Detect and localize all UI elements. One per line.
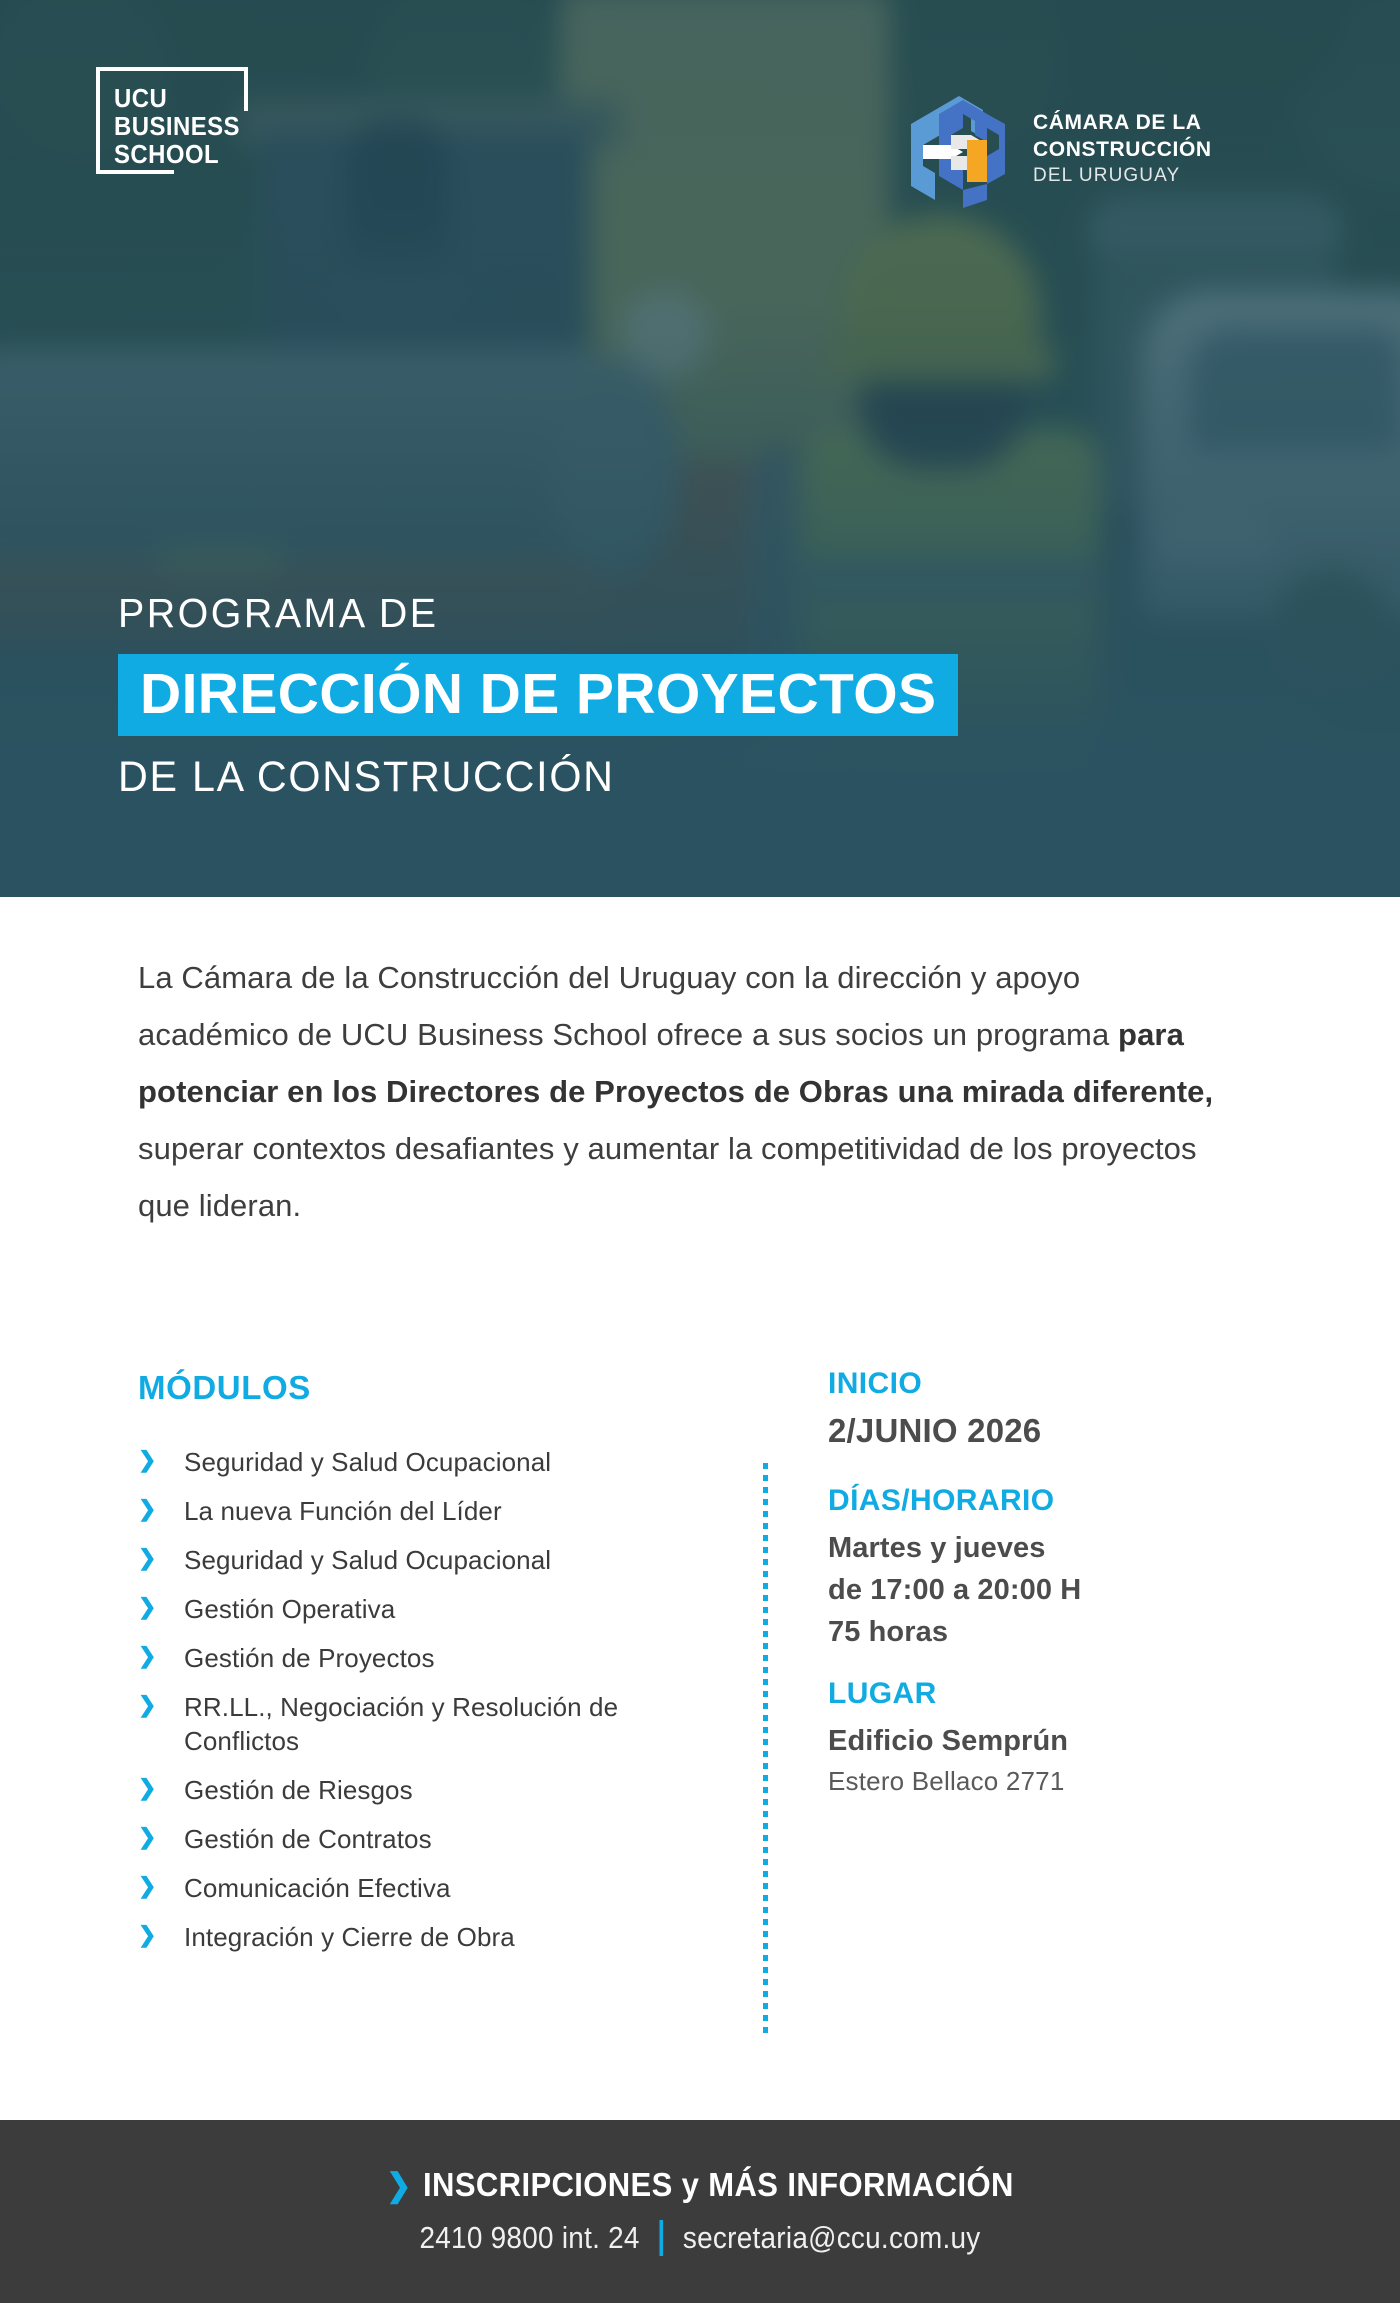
lugar-value: Edificio Semprún xyxy=(828,1720,1268,1762)
hero-banner: UCU BUSINESS SCHOOL CÁMARA DE LA xyxy=(0,0,1400,897)
list-item: ❯ La nueva Función del Líder xyxy=(138,1494,718,1528)
hexagon-chevron-icon xyxy=(905,90,1011,208)
title-highlight-bar: DIRECCIÓN DE PROYECTOS xyxy=(118,654,958,736)
list-item: ❯ Gestión de Contratos xyxy=(138,1822,718,1856)
dias-horario-label: DÍAS/HORARIO xyxy=(828,1484,1268,1518)
list-item: ❯ Seguridad y Salud Ocupacional xyxy=(138,1543,718,1577)
footer-email[interactable]: secretaria@ccu.com.uy xyxy=(683,2220,981,2256)
module-label: Gestión de Proyectos xyxy=(184,1641,435,1675)
ccu-logo-line-1: CÁMARA DE LA xyxy=(1033,109,1212,136)
ucu-logo-line-2: BUSINESS xyxy=(114,112,240,140)
chevron-right-icon: ❯ xyxy=(138,1871,184,1901)
chevron-right-icon: ❯ xyxy=(138,1543,184,1573)
lugar-address: Estero Bellaco 2771 xyxy=(828,1762,1268,1800)
list-item: ❯ Comunicación Efectiva xyxy=(138,1871,718,1905)
footer-contact-row: 2410 9800 int. 24 secretaria@ccu.com.uy xyxy=(70,2220,1330,2256)
chevron-right-icon: ❯ xyxy=(138,1690,184,1720)
chevron-right-icon: ❯ xyxy=(138,1641,184,1671)
course-details: INICIO 2/JUNIO 2026 DÍAS/HORARIO Martes … xyxy=(828,1367,1268,1800)
chevron-right-icon: ❯ xyxy=(138,1920,184,1950)
chevron-right-icon: ❯ xyxy=(138,1494,184,1524)
chevron-right-icon: ❯ xyxy=(138,1773,184,1803)
list-item: ❯ RR.LL., Negociación y Resolución de Co… xyxy=(138,1690,718,1758)
title-subtitle: DE LA CONSTRUCCIÓN xyxy=(118,752,1251,802)
module-label: Seguridad y Salud Ocupacional xyxy=(184,1543,551,1577)
list-item: ❯ Gestión de Riesgos xyxy=(138,1773,718,1807)
chevron-right-icon: ❯ xyxy=(386,2166,412,2204)
modules-list: ❯ Seguridad y Salud Ocupacional ❯ La nue… xyxy=(138,1445,718,1969)
intro-paragraph: La Cámara de la Construcción del Uruguay… xyxy=(138,949,1218,1234)
module-label: Gestión Operativa xyxy=(184,1592,395,1626)
ucu-business-school-logo: UCU BUSINESS SCHOOL xyxy=(96,67,248,174)
module-label: Integración y Cierre de Obra xyxy=(184,1920,515,1954)
footer-separator xyxy=(660,2220,664,2256)
ucu-logo-text: UCU BUSINESS SCHOOL xyxy=(114,84,240,168)
modules-heading: MÓDULOS xyxy=(138,1369,311,1407)
module-label: RR.LL., Negociación y Resolución de Conf… xyxy=(184,1690,718,1758)
logo-frame-bottom xyxy=(96,170,174,174)
module-label: Gestión de Contratos xyxy=(184,1822,432,1856)
list-item: ❯ Seguridad y Salud Ocupacional xyxy=(138,1445,718,1479)
content-section: La Cámara de la Construcción del Uruguay… xyxy=(0,897,1400,2120)
module-label: Gestión de Riesgos xyxy=(184,1773,413,1807)
ccu-logo-line-3: DEL URUGUAY xyxy=(1033,163,1212,189)
dias-horario-value-2: de 17:00 a 20:00 H xyxy=(828,1569,1268,1611)
camara-construccion-logo: CÁMARA DE LA CONSTRUCCIÓN DEL URUGUAY xyxy=(905,90,1212,208)
dotted-column-divider xyxy=(763,1463,768,2035)
footer-headline: INSCRIPCIONES y MÁS INFORMACIÓN xyxy=(423,2166,1014,2204)
list-item: ❯ Gestión Operativa xyxy=(138,1592,718,1626)
ucu-logo-line-3: SCHOOL xyxy=(114,140,240,168)
ccu-logo-text: CÁMARA DE LA CONSTRUCCIÓN DEL URUGUAY xyxy=(1033,109,1212,189)
logo-frame-right xyxy=(244,67,248,111)
program-title-block: PROGRAMA DE DIRECCIÓN DE PROYECTOS DE LA… xyxy=(118,590,1298,802)
ucu-logo-line-1: UCU xyxy=(114,84,240,112)
lugar-label: LUGAR xyxy=(828,1677,1268,1711)
module-label: Seguridad y Salud Ocupacional xyxy=(184,1445,551,1479)
logo-frame-left xyxy=(96,67,100,174)
chevron-right-icon: ❯ xyxy=(138,1445,184,1475)
chevron-right-icon: ❯ xyxy=(138,1592,184,1622)
inicio-value: 2/JUNIO 2026 xyxy=(828,1410,1268,1452)
chevron-right-icon: ❯ xyxy=(138,1822,184,1852)
contact-footer: ❯ INSCRIPCIONES y MÁS INFORMACIÓN 2410 9… xyxy=(0,2120,1400,2303)
module-label: Comunicación Efectiva xyxy=(184,1871,451,1905)
dias-horario-value-3: 75 horas xyxy=(828,1611,1268,1653)
list-item: ❯ Integración y Cierre de Obra xyxy=(138,1920,718,1954)
list-item: ❯ Gestión de Proyectos xyxy=(138,1641,718,1675)
title-pretitle: PROGRAMA DE xyxy=(118,590,1251,636)
title-main: DIRECCIÓN DE PROYECTOS xyxy=(140,664,936,724)
footer-phone[interactable]: 2410 9800 int. 24 xyxy=(419,2220,639,2256)
inicio-label: INICIO xyxy=(828,1367,1268,1401)
dias-horario-value-1: Martes y jueves xyxy=(828,1527,1268,1569)
module-label: La nueva Función del Líder xyxy=(184,1494,502,1528)
intro-part-2: superar contextos desafiantes y aumentar… xyxy=(138,1131,1197,1223)
footer-headline-row: ❯ INSCRIPCIONES y MÁS INFORMACIÓN xyxy=(42,2166,1358,2204)
logo-frame-top xyxy=(96,67,248,71)
ccu-logo-line-2: CONSTRUCCIÓN xyxy=(1033,136,1212,163)
intro-part-1: La Cámara de la Construcción del Uruguay… xyxy=(138,960,1118,1052)
